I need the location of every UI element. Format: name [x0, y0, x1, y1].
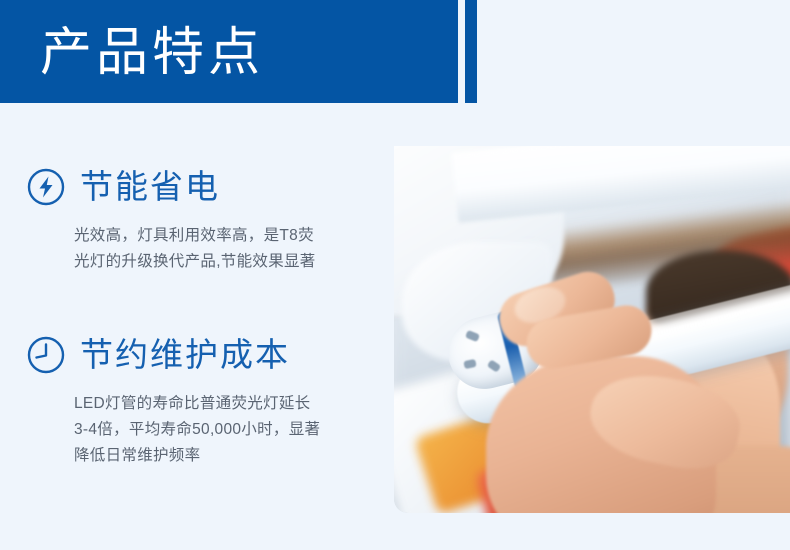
feature-description-line: 3-4倍，平均寿命50,000小时，显著: [74, 417, 364, 443]
feature-title: 节能省电: [80, 167, 220, 207]
feature-list: 节能省电 光效高，灯具利用效率高，是T8荧 光灯的升级换代产品,节能效果显著 节…: [0, 103, 394, 550]
feature-header: 节能省电: [26, 165, 376, 209]
feature-description-line: 光效高，灯具利用效率高，是T8荧: [74, 223, 364, 249]
header-banner-accent-stripe: [465, 0, 477, 103]
lightning-bolt-circle-icon: [26, 167, 66, 207]
feature-description-line: 光灯的升级换代产品,节能效果显著: [74, 249, 364, 275]
feature-description: LED灯管的寿命比普通荧光灯延长 3-4倍，平均寿命50,000小时，显著 降低…: [74, 391, 364, 469]
feature-item-energy-saving: 节能省电 光效高，灯具利用效率高，是T8荧 光灯的升级换代产品,节能效果显著: [26, 165, 376, 275]
page-title: 产品特点: [40, 17, 264, 89]
product-feature-page: 产品特点 节能省电 光效高，灯具利用效率高，是T8荧 光灯的升级换代产品,节能效…: [0, 0, 790, 550]
feature-description-line: LED灯管的寿命比普通荧光灯延长: [74, 391, 364, 417]
clock-circle-icon: [26, 335, 66, 375]
feature-item-maintenance-cost: 节约维护成本 LED灯管的寿命比普通荧光灯延长 3-4倍，平均寿命50,000小…: [26, 333, 376, 469]
feature-header: 节约维护成本: [26, 333, 376, 377]
feature-title: 节约维护成本: [80, 335, 290, 375]
feature-description: 光效高，灯具利用效率高，是T8荧 光灯的升级换代产品,节能效果显著: [74, 223, 364, 275]
led-tube-in-hand-photo: [394, 146, 790, 513]
feature-description-line: 降低日常维护频率: [74, 443, 364, 469]
